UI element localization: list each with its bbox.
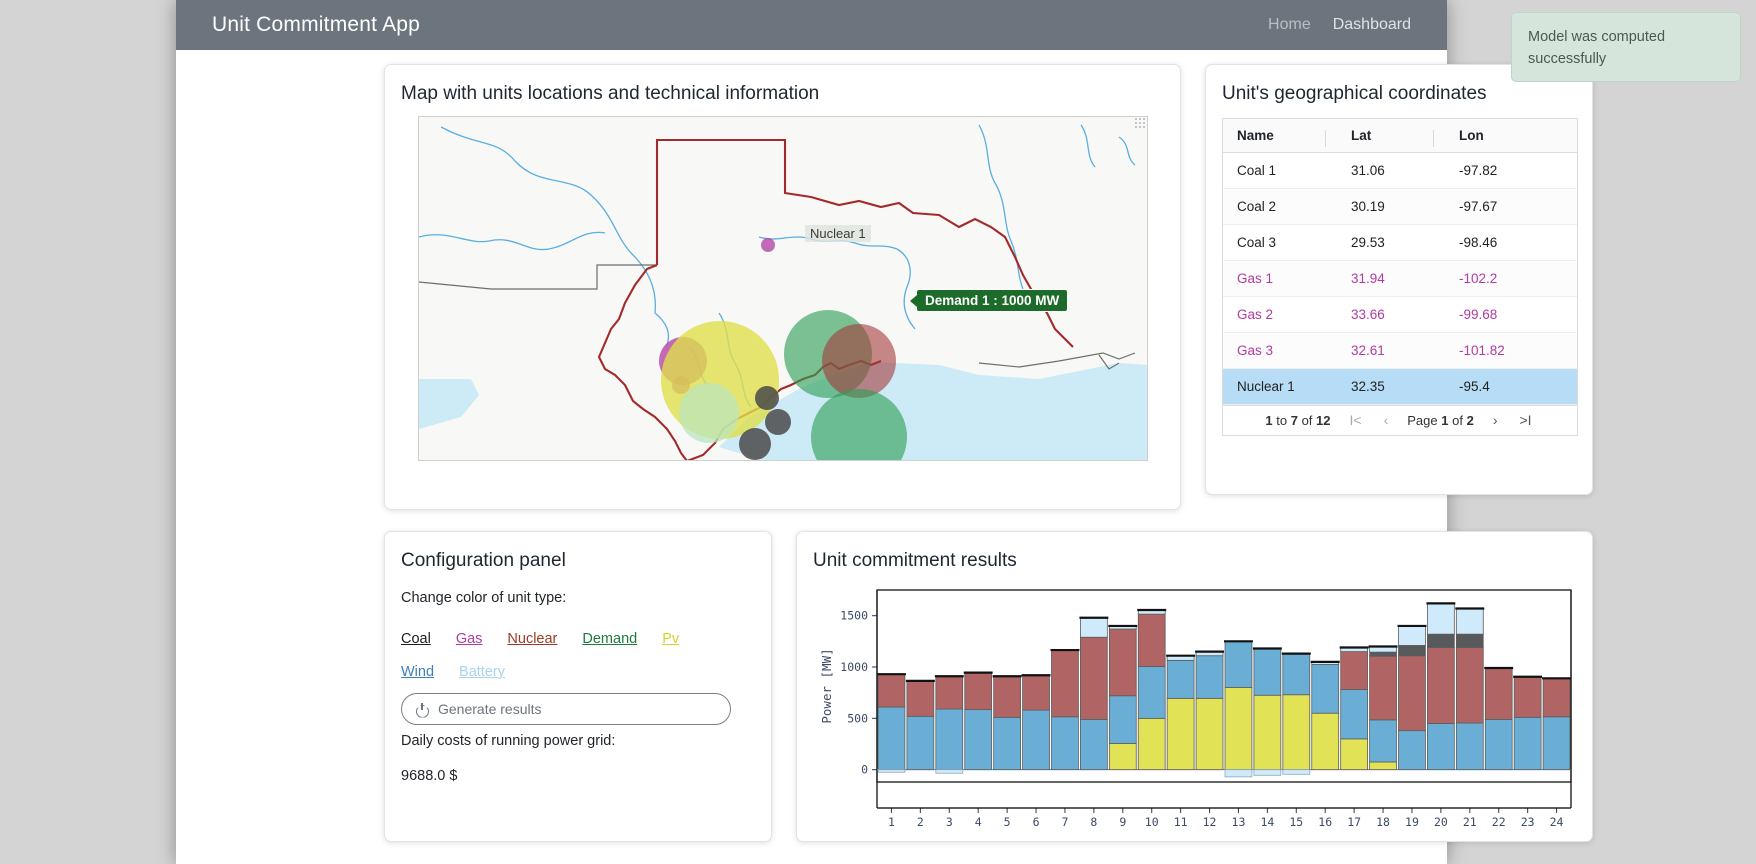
cell-lon: -97.82	[1445, 163, 1553, 178]
cell-lat: 31.06	[1337, 163, 1445, 178]
daily-cost-value: 9688.0 $	[401, 768, 457, 784]
svg-text:19: 19	[1405, 815, 1419, 829]
table-row[interactable]: Coal 230.19-97.67	[1223, 189, 1577, 225]
grid-pagination: 1 to 7 of 12 I< ‹ Page 1 of 2 › >I	[1223, 405, 1577, 435]
svg-text:10: 10	[1145, 815, 1159, 829]
map-unit-label-nuclear-1: Nuclear 1	[805, 225, 871, 242]
map-unit-nuclear-1	[822, 324, 896, 398]
cell-lon: -99.68	[1445, 307, 1553, 322]
page-total: 2	[1467, 413, 1474, 428]
cell-name: Gas 3	[1223, 343, 1337, 358]
svg-text:22: 22	[1492, 815, 1506, 829]
grid-header-row: Name Lat Lon	[1223, 119, 1577, 153]
change-color-label: Change color of unit type:	[401, 590, 566, 606]
results-card-title: Unit commitment results	[813, 550, 1017, 572]
cell-name: Coal 1	[1223, 163, 1337, 178]
svg-text:500: 500	[847, 711, 868, 725]
range-mid-text: to	[1273, 413, 1291, 428]
nav-link-home[interactable]: Home	[1268, 16, 1311, 34]
unit-type-link-battery[interactable]: Battery	[459, 664, 505, 680]
unit-type-link-gas[interactable]: Gas	[456, 631, 483, 647]
svg-text:15: 15	[1289, 815, 1303, 829]
svg-text:23: 23	[1521, 815, 1535, 829]
unit-type-link-pv[interactable]: Pv	[662, 631, 679, 647]
page-current: 1	[1441, 413, 1448, 428]
cell-lon: -95.4	[1445, 379, 1553, 394]
range-total: 12	[1316, 413, 1330, 428]
daily-cost-label: Daily costs of running power grid:	[401, 733, 615, 749]
cell-lon: -101.82	[1445, 343, 1553, 358]
grid-header-name[interactable]: Name	[1223, 128, 1337, 143]
coordinates-card-title: Unit's geographical coordinates	[1222, 83, 1487, 105]
svg-text:9: 9	[1119, 815, 1126, 829]
unit-type-link-demand[interactable]: Demand	[582, 631, 637, 647]
cell-lat: 32.61	[1337, 343, 1445, 358]
svg-text:18: 18	[1376, 815, 1390, 829]
cell-lat: 30.19	[1337, 199, 1445, 214]
cell-name: Coal 3	[1223, 235, 1337, 250]
pagination-first-button[interactable]: I<	[1347, 412, 1365, 428]
page-of-word: of	[1452, 413, 1463, 428]
generate-results-button[interactable]: Generate results	[401, 693, 731, 725]
svg-text:13: 13	[1232, 815, 1246, 829]
power-icon	[416, 703, 429, 716]
navbar: Unit Commitment App Home Dashboard	[176, 0, 1447, 50]
page-word: Page	[1407, 413, 1437, 428]
svg-text:5: 5	[1004, 815, 1011, 829]
generate-results-label: Generate results	[438, 701, 542, 717]
svg-text:0: 0	[861, 763, 868, 777]
toast-notification[interactable]: Model was computed successfully	[1511, 12, 1741, 82]
svg-text:21: 21	[1463, 815, 1477, 829]
table-row[interactable]: Coal 131.06-97.82	[1223, 153, 1577, 189]
svg-text:14: 14	[1260, 815, 1274, 829]
configuration-card-title: Configuration panel	[401, 550, 566, 572]
map-resize-handle[interactable]	[1135, 118, 1146, 129]
pagination-prev-button[interactable]: ‹	[1381, 412, 1392, 428]
pagination-page-indicator: Page 1 of 2	[1407, 413, 1474, 428]
cell-lat: 32.35	[1337, 379, 1445, 394]
nav-link-dashboard[interactable]: Dashboard	[1333, 16, 1411, 34]
cell-lat: 33.66	[1337, 307, 1445, 322]
svg-text:11: 11	[1174, 815, 1188, 829]
svg-text:1: 1	[888, 815, 895, 829]
svg-text:6: 6	[1033, 815, 1040, 829]
unit-type-links-row-2: WindBattery	[401, 664, 505, 680]
coordinates-card: Unit's geographical coordinates Name Lat…	[1205, 64, 1593, 495]
table-row[interactable]: Gas 332.61-101.82	[1223, 333, 1577, 369]
grid-body: Coal 131.06-97.82Coal 230.19-97.67Coal 3…	[1223, 153, 1577, 405]
app-shell: Unit Commitment App Home Dashboard Map w…	[176, 0, 1447, 864]
svg-text:1500: 1500	[840, 609, 868, 623]
app-title: Unit Commitment App	[212, 13, 420, 37]
unit-type-link-coal[interactable]: Coal	[401, 631, 431, 647]
unit-type-link-nuclear[interactable]: Nuclear	[507, 631, 557, 647]
svg-text:7: 7	[1061, 815, 1068, 829]
grid-range-summary: 1 to 7 of 12	[1265, 413, 1330, 428]
navbar-links: Home Dashboard	[1268, 16, 1411, 34]
coordinates-grid[interactable]: Name Lat Lon Coal 131.06-97.82Coal 230.1…	[1222, 118, 1578, 436]
map-card: Map with units locations and technical i…	[384, 64, 1181, 510]
range-from: 1	[1265, 413, 1272, 428]
svg-text:Power [MW]: Power [MW]	[819, 648, 834, 723]
grid-header-lat[interactable]: Lat	[1337, 128, 1445, 143]
cell-lat: 31.94	[1337, 271, 1445, 286]
cell-lat: 29.53	[1337, 235, 1445, 250]
svg-text:20: 20	[1434, 815, 1448, 829]
pagination-next-button[interactable]: ›	[1490, 412, 1501, 428]
table-row[interactable]: Gas 233.66-99.68	[1223, 297, 1577, 333]
table-row[interactable]: Nuclear 132.35-95.4	[1223, 369, 1577, 405]
unit-type-link-wind[interactable]: Wind	[401, 664, 434, 680]
svg-text:1000: 1000	[840, 660, 868, 674]
cell-lon: -102.2	[1445, 271, 1553, 286]
unit-type-links-row-1: CoalGasNuclearDemandPv	[401, 631, 679, 647]
map-tooltip-demand-1: Demand 1 : 1000 MW	[916, 289, 1068, 312]
cell-lon: -98.46	[1445, 235, 1553, 250]
svg-text:24: 24	[1550, 815, 1564, 829]
cell-name: Nuclear 1	[1223, 379, 1337, 394]
range-to: 7	[1291, 413, 1298, 428]
svg-text:8: 8	[1090, 815, 1097, 829]
svg-text:12: 12	[1203, 815, 1217, 829]
cell-lon: -97.67	[1445, 199, 1553, 214]
map-viewport[interactable]: Nuclear 1 Demand 1 : 1000 MW	[418, 116, 1148, 461]
map-card-title: Map with units locations and technical i…	[401, 83, 819, 105]
results-card: Unit commitment results 050010001500Powe…	[796, 531, 1593, 842]
pagination-last-button[interactable]: >I	[1517, 412, 1535, 428]
svg-text:3: 3	[946, 815, 953, 829]
unit-commitment-chart[interactable]: 050010001500Power [MW]123456789101112131…	[809, 584, 1579, 829]
svg-text:16: 16	[1318, 815, 1332, 829]
configuration-card: Configuration panel Change color of unit…	[384, 531, 772, 842]
svg-text:17: 17	[1347, 815, 1361, 829]
table-row[interactable]: Coal 329.53-98.46	[1223, 225, 1577, 261]
svg-text:4: 4	[975, 815, 982, 829]
cell-name: Gas 1	[1223, 271, 1337, 286]
cell-name: Coal 2	[1223, 199, 1337, 214]
svg-text:2: 2	[917, 815, 924, 829]
range-of-text: of	[1298, 413, 1316, 428]
cell-name: Gas 2	[1223, 307, 1337, 322]
table-row[interactable]: Gas 131.94-102.2	[1223, 261, 1577, 297]
grid-header-lon[interactable]: Lon	[1445, 128, 1553, 143]
